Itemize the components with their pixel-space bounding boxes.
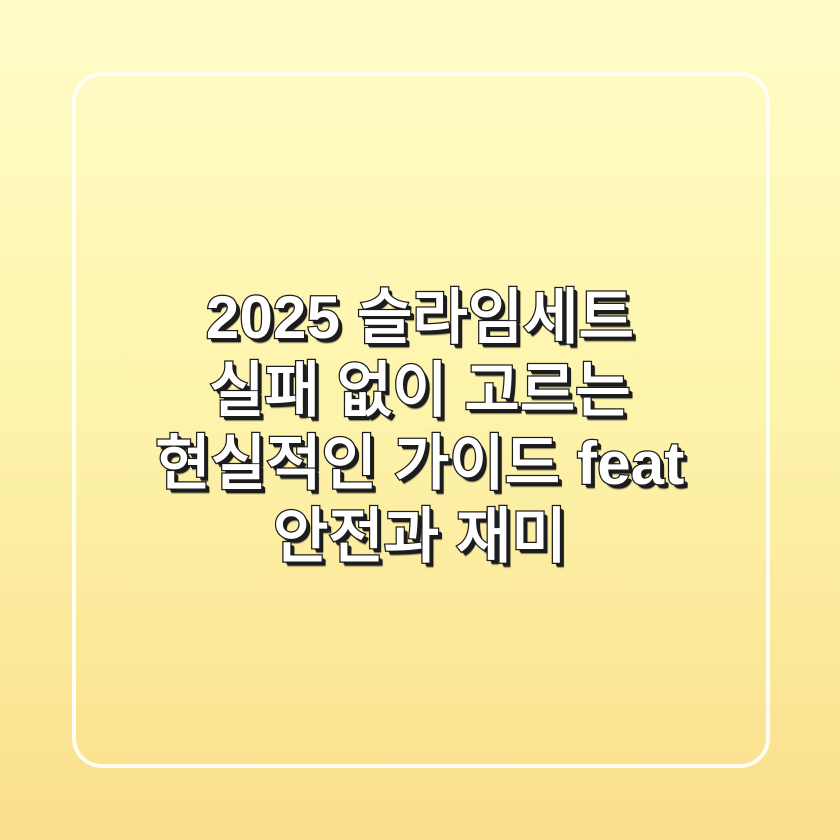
thumbnail-card: 2025 슬라임세트 실패 없이 고르는 현실적인 가이드 feat 안전과 재… [0,0,840,840]
headline-line-2: 실패 없이 고르는 [60,354,780,427]
headline-line-1: 2025 슬라임세트 [60,281,780,354]
headline-block: 2025 슬라임세트 실패 없이 고르는 현실적인 가이드 feat 안전과 재… [0,281,840,573]
headline-line-4: 안전과 재미 [60,500,780,573]
headline-line-3: 현실적인 가이드 feat [60,427,780,500]
